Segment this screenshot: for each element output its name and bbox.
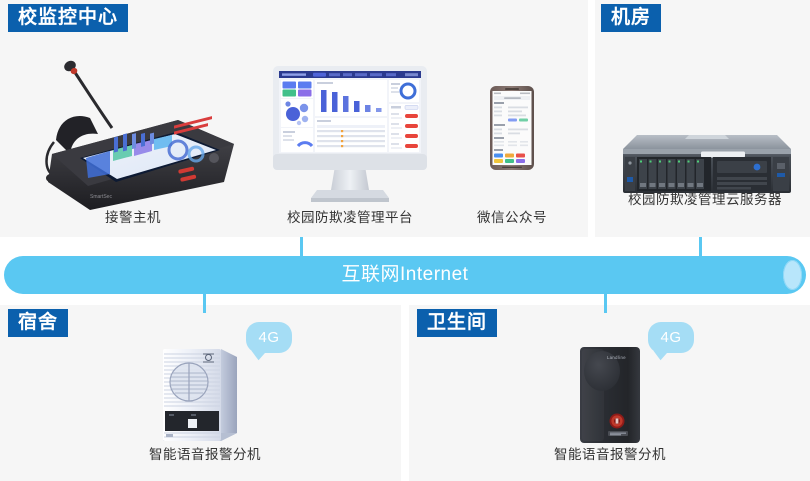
device-label-restroom-terminal: 智能语音报警分机 — [530, 443, 690, 463]
smartphone-icon — [452, 48, 572, 228]
network-tag-label: 4G — [648, 322, 694, 353]
network-tag-label: 4G — [246, 322, 292, 353]
desktop-monitor-icon — [255, 48, 445, 228]
device-cloud-server[interactable]: 校园防欺凌管理云服务器 — [605, 110, 805, 230]
section-badge-monitor-center: 校监控中心 — [8, 4, 128, 32]
rack-server-icon — [605, 110, 805, 230]
network-topology-diagram: 校监控中心 机房 — [0, 0, 810, 481]
device-label-cloud-server: 校园防欺凌管理云服务器 — [605, 188, 805, 208]
device-alarm-host[interactable]: SmartSec 接警主机 — [28, 48, 238, 228]
device-label-dorm-terminal: 智能语音报警分机 — [125, 443, 285, 463]
device-label-alarm-host: 接警主机 — [28, 206, 238, 226]
device-management-platform[interactable]: 校园防欺凌管理平台 — [255, 48, 445, 228]
internet-label: 互联网Internet — [4, 256, 806, 294]
network-tag-dorm-4g: 4G — [246, 322, 292, 353]
alarm-console-icon: SmartSec — [28, 48, 238, 228]
section-badge-dormitory: 宿舍 — [8, 309, 68, 337]
svg-text:SmartSec: SmartSec — [90, 194, 112, 200]
device-wechat-official[interactable]: 微信公众号 — [452, 48, 572, 228]
network-tag-restroom-4g: 4G — [648, 322, 694, 353]
internet-backbone-bar: 互联网Internet — [4, 256, 806, 294]
section-badge-server-room: 机房 — [601, 4, 661, 32]
connector-internet-to-restroom — [604, 291, 607, 313]
cylinder-end-cap — [783, 260, 802, 290]
device-label-wechat-official: 微信公众号 — [452, 206, 572, 226]
section-badge-restroom: 卫生间 — [417, 309, 497, 337]
svg-text:Landline: Landline — [607, 355, 626, 360]
connector-internet-to-dormitory — [203, 291, 206, 313]
device-label-management-platform: 校园防欺凌管理平台 — [255, 206, 445, 226]
